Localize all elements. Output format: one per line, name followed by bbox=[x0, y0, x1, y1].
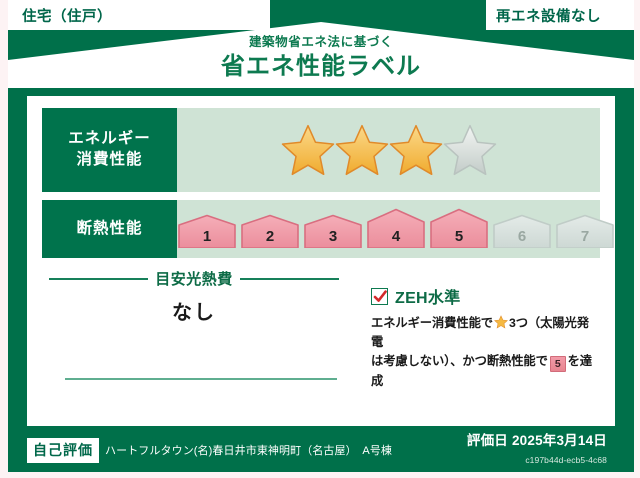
zeh-desc-part1: エネルギー消費性能で bbox=[371, 316, 493, 330]
tag-housing-type: 住宅（住戸） bbox=[8, 0, 270, 30]
insulation-house-active: 4 bbox=[366, 208, 426, 248]
insulation-grade-number: 6 bbox=[492, 229, 552, 244]
section-divider bbox=[355, 264, 357, 392]
insulation-house-active: 5 bbox=[429, 208, 489, 248]
zeh-heading: ZEH水準 bbox=[371, 284, 599, 308]
insulation-grade-number: 4 bbox=[366, 229, 426, 244]
row-insulation-body: 1234567 bbox=[177, 200, 615, 258]
zeh-title: ZEH水準 bbox=[395, 284, 461, 308]
title-block: 建築物省エネ法に基づく 省エネ性能ラベル bbox=[8, 36, 634, 82]
star-icon-filled bbox=[281, 123, 335, 177]
insulation-house-active: 2 bbox=[240, 214, 300, 248]
row-insulation-performance: 断熱性能 1234567 bbox=[42, 200, 600, 258]
insulation-grade-scale: 1234567 bbox=[177, 208, 615, 250]
insulation-grade-number: 3 bbox=[303, 229, 363, 244]
insulation-grade-number: 5 bbox=[429, 229, 489, 244]
star-icon-filled bbox=[335, 123, 389, 177]
label-footer: 自己評価 ハートフルタウン(名)春日井市東神明町（名古屋） A号棟 評価日 20… bbox=[27, 434, 615, 466]
star-icon-inline bbox=[494, 315, 508, 329]
cost-bottom-rule bbox=[65, 378, 337, 380]
cost-rule-right bbox=[240, 278, 339, 280]
zeh-block: ZEH水準 エネルギー消費性能で3つ（太陽光発電は考慮しない）、かつ断熱性能で5… bbox=[371, 284, 599, 391]
row-energy-label-line1: エネルギー bbox=[68, 129, 151, 150]
label-id-code: c197b44d-ecb5-4c68 bbox=[525, 455, 607, 465]
tag-housing-type-label: 住宅（住戸） bbox=[22, 5, 112, 26]
check-icon bbox=[371, 288, 388, 305]
label-card: 住宅（住戸） 再エネ設備なし 建築物省エネ法に基づく 省エネ性能ラベル エネルギ… bbox=[8, 0, 634, 472]
insulation-house-inactive: 6 bbox=[492, 214, 552, 248]
insulation-grade-number: 2 bbox=[240, 229, 300, 244]
row-energy-label-line2: 消費性能 bbox=[76, 150, 142, 171]
row-energy-label: エネルギー 消費性能 bbox=[42, 108, 177, 192]
insulation-grade-number: 7 bbox=[555, 229, 615, 244]
energy-label-page: 住宅（住戸） 再エネ設備なし 建築物省エネ法に基づく 省エネ性能ラベル エネルギ… bbox=[0, 0, 640, 478]
cost-heading-label: 目安光熱費 bbox=[155, 268, 233, 289]
row-insulation-label: 断熱性能 bbox=[42, 200, 177, 258]
property-address: ハートフルタウン(名)春日井市東神明町（名古屋） A号棟 bbox=[105, 442, 392, 458]
page-title: 省エネ性能ラベル bbox=[8, 52, 634, 82]
title-subtitle: 建築物省エネ法に基づく bbox=[8, 36, 634, 50]
star-icon-filled bbox=[389, 123, 443, 177]
evaluation-date: 評価日 2025年3月14日 bbox=[467, 433, 607, 448]
row-insulation-label-line1: 断熱性能 bbox=[76, 219, 142, 240]
evaluation-date-block: 評価日 2025年3月14日 c197b44d-ecb5-4c68 bbox=[467, 432, 615, 468]
cost-heading: 目安光熱費 bbox=[49, 268, 339, 289]
zeh-description: エネルギー消費性能で3つ（太陽光発電は考慮しない）、かつ断熱性能で5を達成 bbox=[371, 314, 599, 391]
row-energy-body bbox=[177, 108, 600, 192]
star-rating bbox=[281, 123, 497, 177]
grade-badge: 5 bbox=[550, 356, 566, 372]
insulation-house-active: 3 bbox=[303, 214, 363, 248]
insulation-grade-number: 1 bbox=[177, 229, 237, 244]
insulation-house-active: 1 bbox=[177, 214, 237, 248]
row-energy-performance: エネルギー 消費性能 bbox=[42, 108, 600, 192]
zeh-desc-part2: は考慮しない）、かつ断熱性能で bbox=[371, 354, 548, 368]
insulation-house-inactive: 7 bbox=[555, 214, 615, 248]
cost-rule-left bbox=[49, 278, 148, 280]
cost-value: なし bbox=[49, 296, 339, 325]
self-evaluation-badge: 自己評価 bbox=[27, 438, 99, 463]
label-panel: エネルギー 消費性能 断熱性能 1234567 目安光熱費 bbox=[27, 96, 615, 426]
star-icon-empty bbox=[443, 123, 497, 177]
tag-renewable-energy: 再エネ設備なし bbox=[486, 0, 634, 30]
tag-renewable-energy-label: 再エネ設備なし bbox=[496, 5, 601, 26]
